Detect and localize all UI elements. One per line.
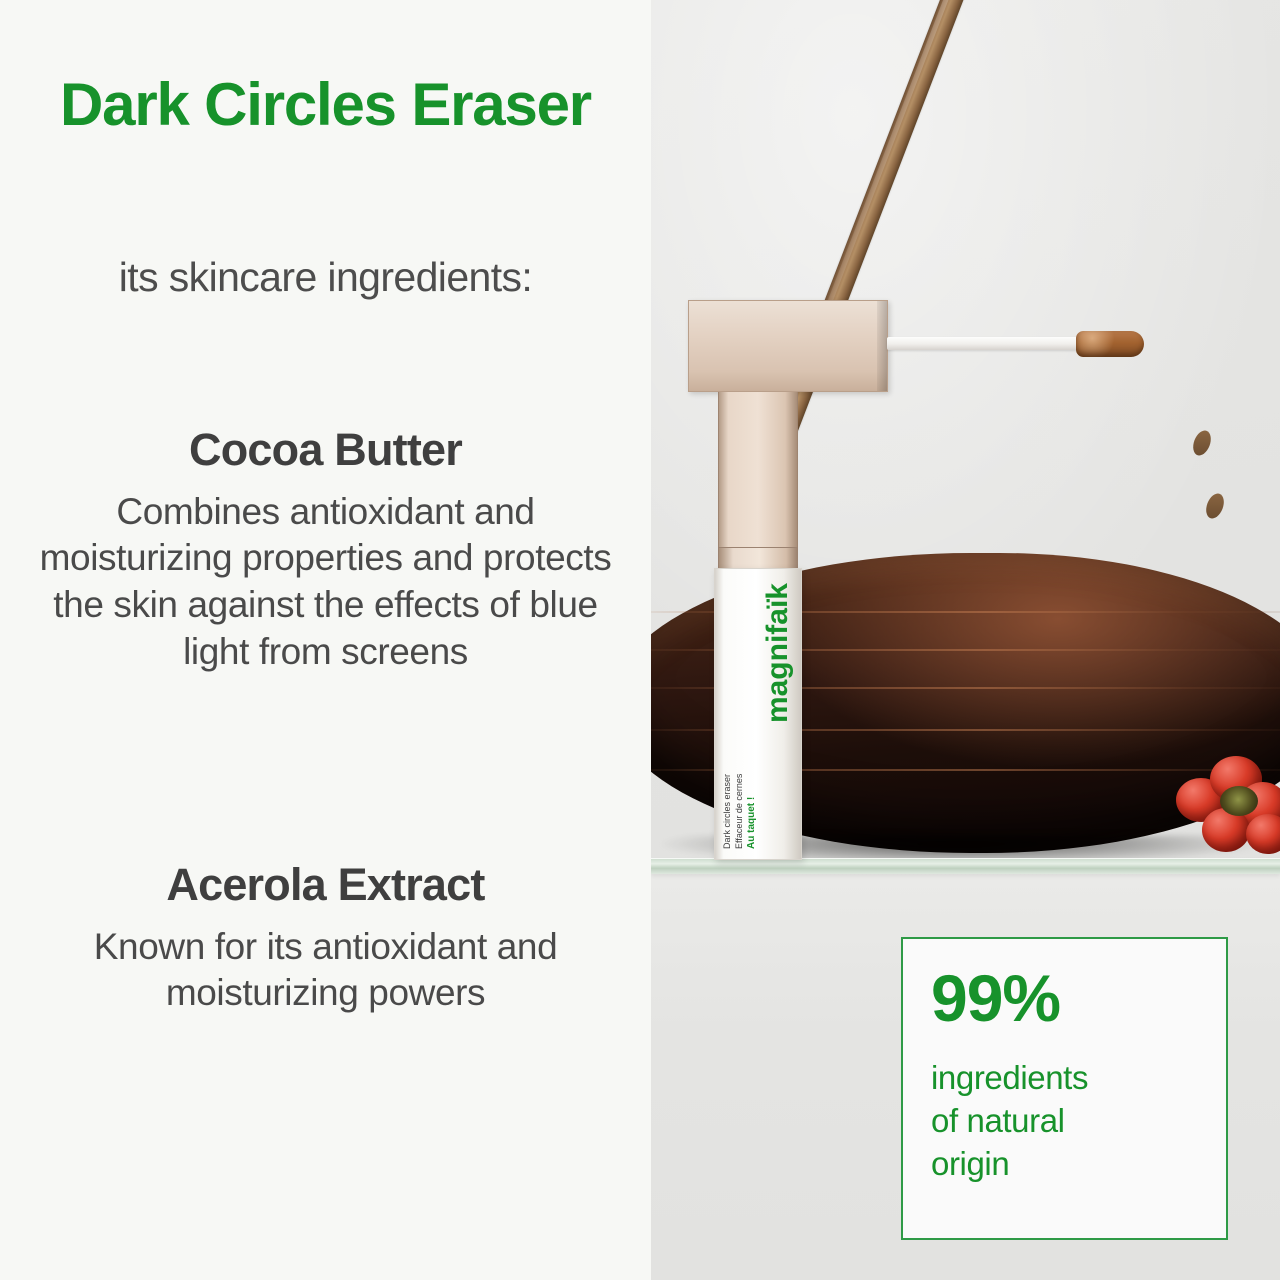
badge-percentage: 99%	[931, 965, 1198, 1031]
ingredient-name: Cocoa Butter	[0, 425, 651, 475]
applicator-tip-icon	[1076, 331, 1144, 357]
berry	[1246, 814, 1280, 854]
acerola-berries	[1176, 752, 1280, 862]
berry-calyx	[1220, 786, 1258, 816]
twig-knot-icon	[1190, 428, 1214, 458]
product-photo-panel: magnifaïk Dark circles eraser Effaceur d…	[651, 0, 1280, 1280]
product-name-en: Dark circles eraser	[723, 753, 732, 849]
subtitle: its skincare ingredients:	[0, 254, 651, 301]
badge-description: ingredients of natural origin	[931, 1057, 1198, 1186]
applicator-wand	[887, 337, 1084, 350]
ingredient-block-cocoa-butter: Cocoa Butter Combines antioxidant and mo…	[0, 425, 651, 676]
badge-line-2: of natural	[931, 1100, 1198, 1143]
glass-shelf	[651, 858, 1280, 874]
marketing-image-root: Dark Circles Eraser its skincare ingredi…	[0, 0, 1280, 1280]
ingredient-name: Acerola Extract	[0, 860, 651, 910]
twig-knot-icon	[1203, 491, 1227, 521]
product-bottle: magnifaïk Dark circles eraser Effaceur d…	[714, 568, 802, 860]
product-name-fr: Effaceur de cernes	[735, 753, 744, 849]
ingredients-text-panel: Dark Circles Eraser its skincare ingredi…	[0, 0, 651, 1280]
ingredient-description: Combines antioxidant and moisturizing pr…	[0, 489, 651, 677]
natural-origin-badge: 99% ingredients of natural origin	[901, 937, 1228, 1240]
ingredient-block-acerola-extract: Acerola Extract Known for its antioxidan…	[0, 860, 651, 1017]
badge-line-1: ingredients	[931, 1057, 1198, 1100]
product-claim: Au taquet !	[747, 753, 757, 849]
product-cap	[688, 300, 888, 392]
badge-line-3: origin	[931, 1143, 1198, 1186]
ingredient-description: Known for its antioxidant and moisturizi…	[0, 924, 651, 1018]
page-title: Dark Circles Eraser	[0, 74, 651, 135]
brand-logo: magnifaïk	[761, 583, 795, 823]
product-label-text: Dark circles eraser Effaceur de cernes A…	[723, 753, 757, 849]
brand-name: magnifaïk	[761, 583, 795, 723]
product-neck	[718, 392, 798, 562]
